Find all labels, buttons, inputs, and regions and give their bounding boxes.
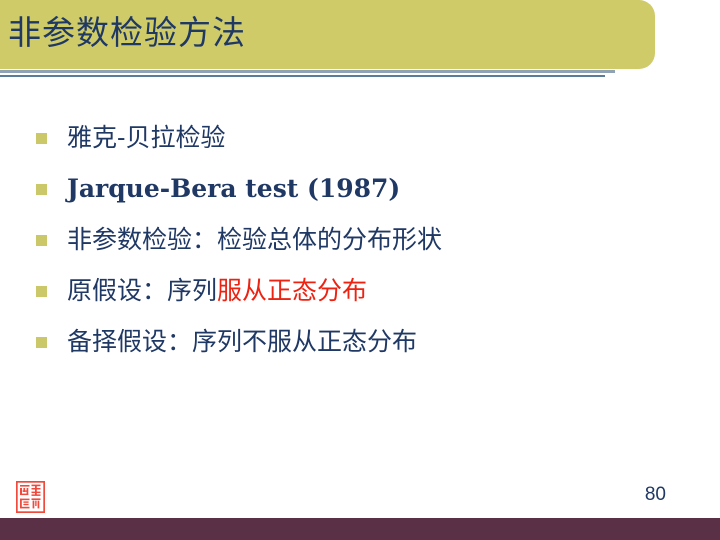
bullet-item-label: 雅克-贝拉检验 xyxy=(67,123,686,153)
slide-canvas: 非参数检验方法 雅克-贝拉检验Jarque-Bera test (1987)非参… xyxy=(0,0,720,540)
title-banner: 非参数检验方法 xyxy=(0,0,655,69)
bullet-text-segment: 雅克-贝拉检验 xyxy=(67,123,225,152)
bullet-list-item: 原假设：序列服从正态分布 xyxy=(36,265,686,316)
bullet-list-item: 非参数检验：检验总体的分布形状 xyxy=(36,214,686,265)
bullet-item-label: 非参数检验：检验总体的分布形状 xyxy=(67,225,686,255)
page-title: 非参数检验方法 xyxy=(8,13,246,53)
divider-rule-upper xyxy=(0,70,615,73)
red-seal-stamp-icon xyxy=(16,481,45,513)
divider-rule-lower xyxy=(0,75,605,77)
square-bullet-icon xyxy=(36,133,47,144)
square-bullet-icon xyxy=(36,337,47,348)
bullet-text-segment: 备择假设：序列不服从正态分布 xyxy=(67,327,417,356)
bullet-item-label: Jarque-Bera test (1987) xyxy=(67,174,686,204)
bullet-list: 雅克-贝拉检验Jarque-Bera test (1987)非参数检验：检验总体… xyxy=(36,112,686,367)
bullet-text-segment: 非参数检验：检验总体的分布形状 xyxy=(67,225,442,254)
square-bullet-icon xyxy=(36,286,47,297)
bullet-list-item: 雅克-贝拉检验 xyxy=(36,112,686,163)
footer-bar xyxy=(0,518,720,540)
bullet-item-label: 备择假设：序列不服从正态分布 xyxy=(67,327,686,357)
bullet-item-label: 原假设：序列服从正态分布 xyxy=(67,276,686,306)
bullet-list-item: 备择假设：序列不服从正态分布 xyxy=(36,316,686,367)
bullet-text-segment: 原假设：序列 xyxy=(67,276,217,305)
bullet-text-accent-segment: 服从正态分布 xyxy=(217,276,367,305)
square-bullet-icon xyxy=(36,184,47,195)
bullet-text-segment: Jarque-Bera test (1987) xyxy=(67,174,400,203)
square-bullet-icon xyxy=(36,235,47,246)
bullet-list-item: Jarque-Bera test (1987) xyxy=(36,163,686,214)
page-number: 80 xyxy=(645,484,666,506)
